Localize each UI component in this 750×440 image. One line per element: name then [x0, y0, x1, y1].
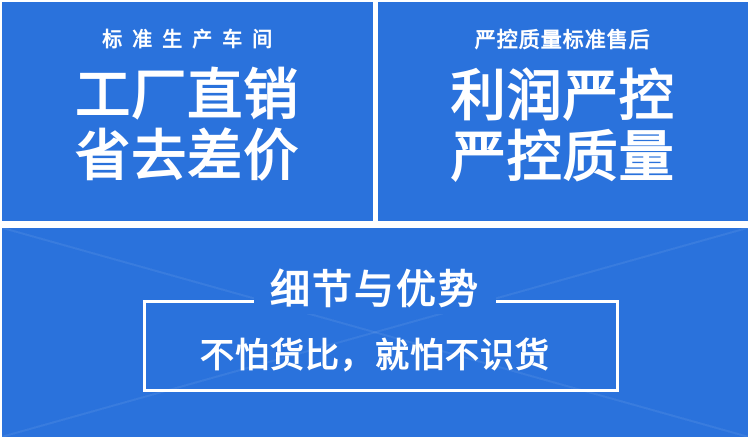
panel-right-eyebrow: 严控质量标准售后 — [475, 30, 651, 51]
panel-left-headline-line2: 省去差价 — [75, 127, 299, 186]
panel-left-eyebrow: 标准生产车间 — [92, 30, 282, 50]
feature-subtitle: 不怕货比，就怕不识货 — [2, 336, 748, 377]
panel-left-headline-line1: 工厂直销 — [75, 66, 299, 125]
panel-quality-control: 严控质量标准售后 利润严控 严控质量 — [378, 2, 749, 221]
panel-right-headline-line1: 利润严控 — [451, 67, 675, 126]
panel-details-advantages: 细节与优势 不怕货比，就怕不识货 — [2, 228, 748, 437]
top-panel-row: 标准生产车间 工厂直销 省去差价 严控质量标准售后 利润严控 严控质量 — [0, 0, 750, 221]
panel-factory-direct: 标准生产车间 工厂直销 省去差价 — [2, 2, 373, 221]
promo-banner: 标准生产车间 工厂直销 省去差价 严控质量标准售后 利润严控 严控质量 细节与优… — [0, 0, 750, 440]
panel-right-headline-line2: 严控质量 — [451, 128, 675, 187]
